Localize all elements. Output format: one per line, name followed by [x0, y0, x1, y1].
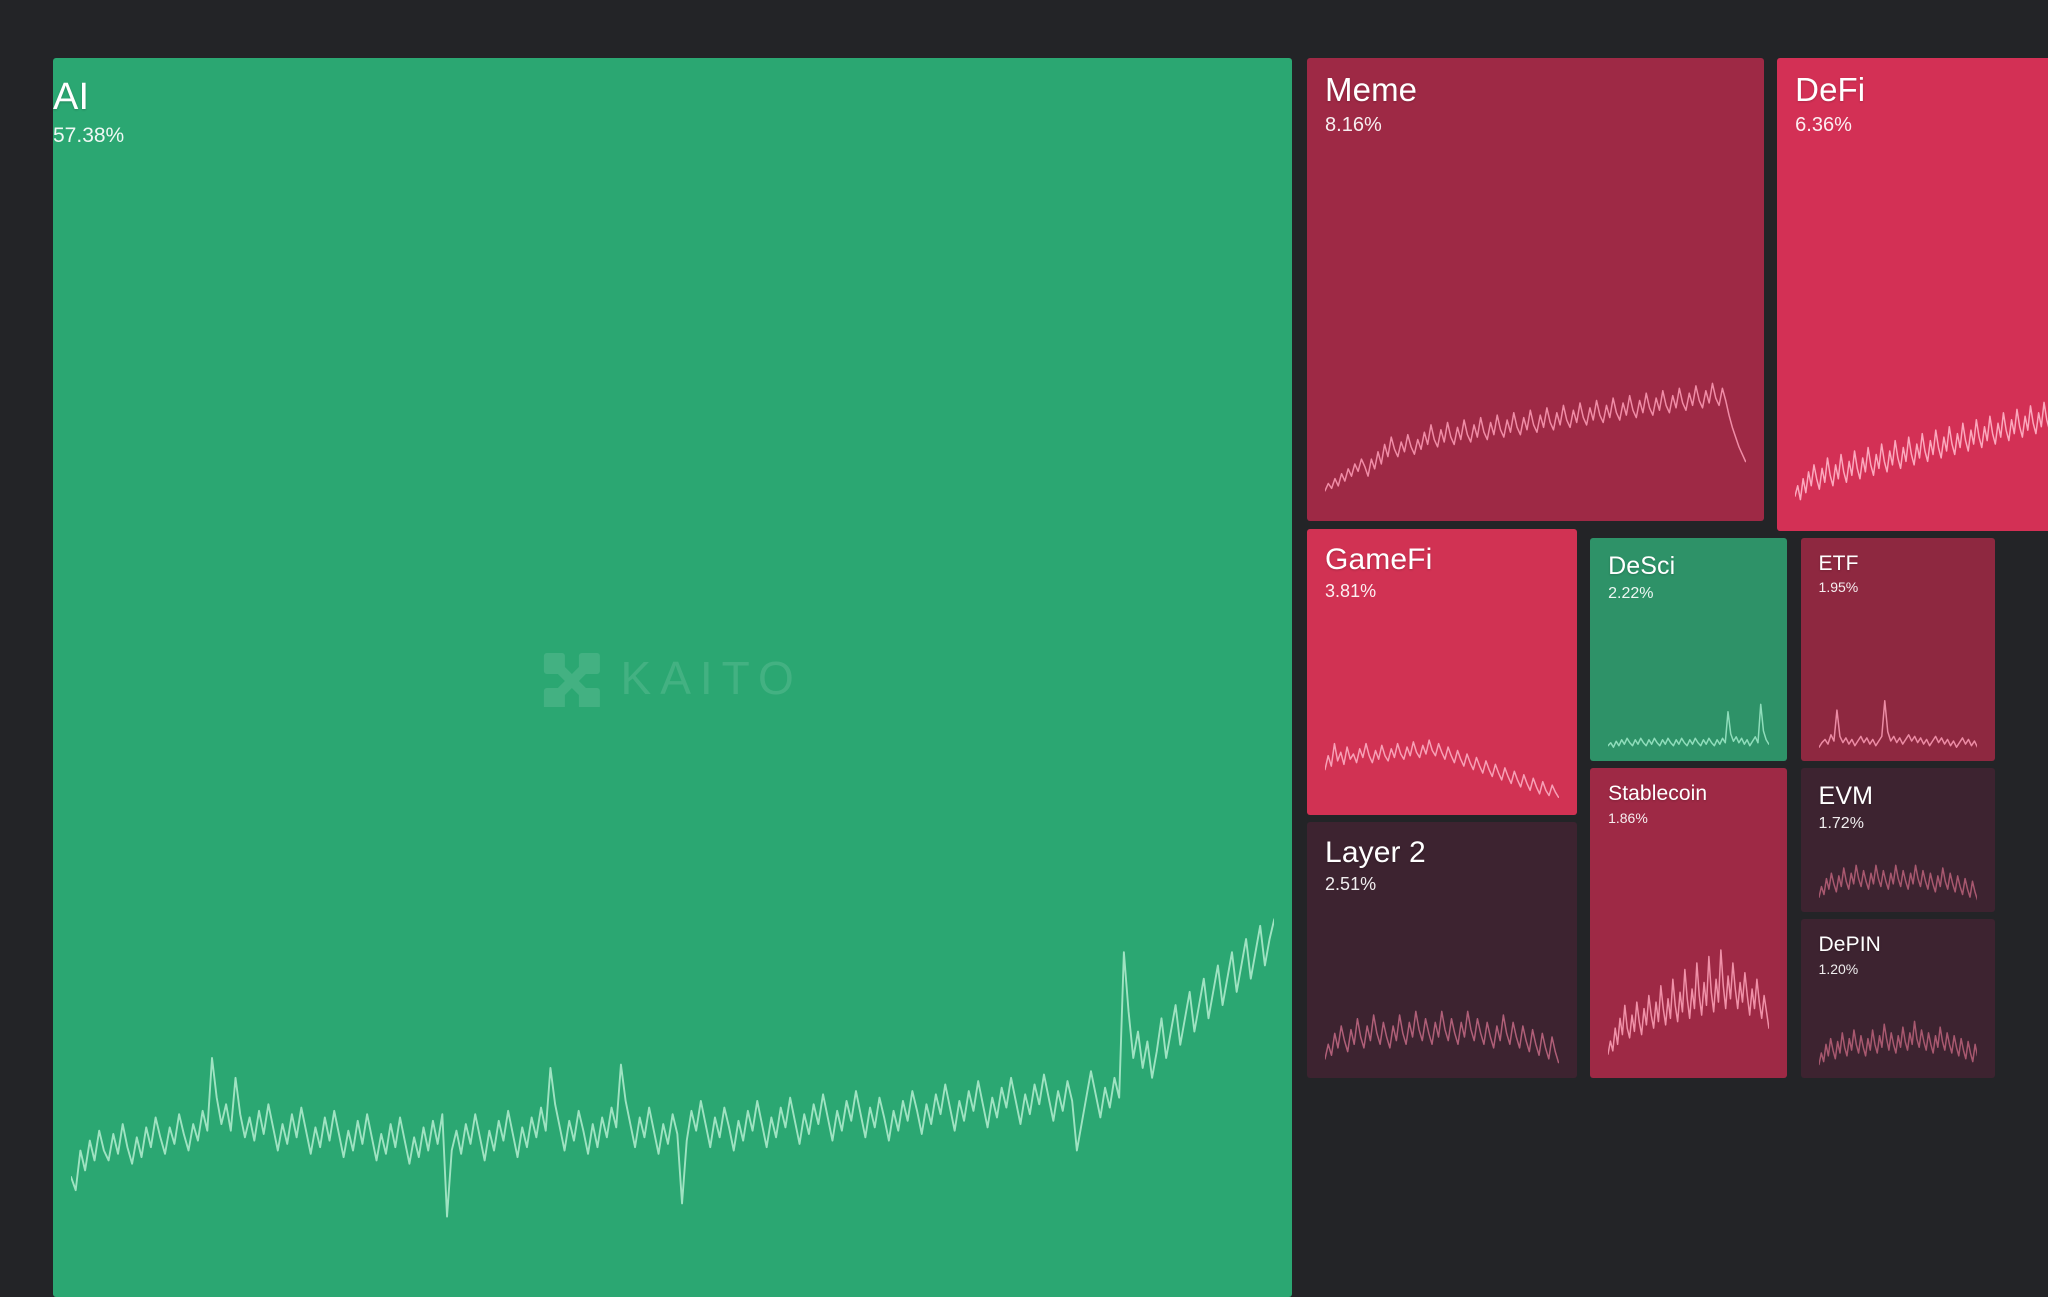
tile-label-group: DeFi6.36%: [1777, 58, 1883, 136]
tile-label-group: AI57.38%: [53, 58, 146, 147]
tile-sparkline: [1795, 359, 2048, 515]
tile-sparkline: [1608, 937, 1769, 1067]
tile-percent-value: 57.38%: [53, 124, 124, 147]
tile-sparkline: [1325, 733, 1559, 804]
kaito-watermark: KAITO: [543, 649, 803, 707]
tile-sparkline: [1608, 699, 1769, 753]
treemap-tile-desci[interactable]: DeSci2.22%: [1590, 538, 1787, 761]
treemap-tile-stablecoin[interactable]: Stablecoin1.86%: [1590, 768, 1787, 1078]
tile-percent-value: 3.81%: [1325, 582, 1432, 602]
tile-category-name: GameFi: [1325, 543, 1432, 577]
kaito-watermark-text: KAITO: [621, 651, 803, 705]
treemap-tile-layer-2[interactable]: Layer 22.51%: [1307, 822, 1577, 1078]
treemap-tile-etf[interactable]: ETF1.95%: [1801, 538, 1995, 761]
tile-category-name: Meme: [1325, 72, 1417, 109]
tile-percent-value: 6.36%: [1795, 114, 1865, 136]
treemap-tile-depin[interactable]: DePIN1.20%: [1801, 919, 1995, 1078]
tile-category-name: DePIN: [1819, 933, 1881, 957]
tile-category-name: AI: [53, 76, 124, 119]
tile-percent-value: 1.20%: [1819, 962, 1881, 977]
tile-category-name: EVM: [1819, 782, 1873, 810]
tile-percent-value: 2.51%: [1325, 875, 1426, 895]
tile-sparkline: [1325, 1005, 1559, 1069]
tile-category-name: Stablecoin: [1608, 782, 1707, 806]
tile-sparkline: [1325, 370, 1746, 504]
tile-category-name: Layer 2: [1325, 836, 1426, 870]
tile-percent-value: 8.16%: [1325, 114, 1417, 136]
treemap-chart: AI57.38%KAITOMeme8.16%DeFi6.36%GameFi3.8…: [53, 58, 1995, 1078]
tile-sparkline: [1819, 861, 1977, 904]
tile-sparkline: [1819, 1016, 1977, 1070]
tile-label-group: Stablecoin1.86%: [1590, 768, 1725, 826]
treemap-tile-ai[interactable]: AI57.38%KAITO: [53, 58, 1292, 1297]
treemap-tile-evm[interactable]: EVM1.72%: [1801, 768, 1995, 912]
tile-label-group: Layer 22.51%: [1307, 822, 1444, 894]
tile-category-name: DeFi: [1795, 72, 1865, 109]
tile-sparkline: [1819, 695, 1977, 753]
tile-category-name: DeSci: [1608, 552, 1675, 580]
tile-label-group: Meme8.16%: [1307, 58, 1435, 136]
tile-percent-value: 1.95%: [1819, 580, 1859, 595]
tile-label-group: DePIN1.20%: [1801, 919, 1899, 977]
tile-percent-value: 1.72%: [1819, 815, 1873, 833]
kaito-x-logo-icon: [543, 649, 601, 707]
tile-sparkline: [71, 882, 1274, 1254]
treemap-tile-meme[interactable]: Meme8.16%: [1307, 58, 1764, 521]
treemap-tile-gamefi[interactable]: GameFi3.81%: [1307, 529, 1577, 815]
tile-category-name: ETF: [1819, 552, 1859, 576]
tile-percent-value: 1.86%: [1608, 811, 1707, 826]
tile-label-group: ETF1.95%: [1801, 538, 1877, 596]
tile-label-group: EVM1.72%: [1801, 768, 1891, 833]
tile-label-group: DeSci2.22%: [1590, 538, 1693, 603]
treemap-tile-defi[interactable]: DeFi6.36%: [1777, 58, 2048, 531]
tile-percent-value: 2.22%: [1608, 585, 1675, 603]
tile-label-group: GameFi3.81%: [1307, 529, 1450, 601]
